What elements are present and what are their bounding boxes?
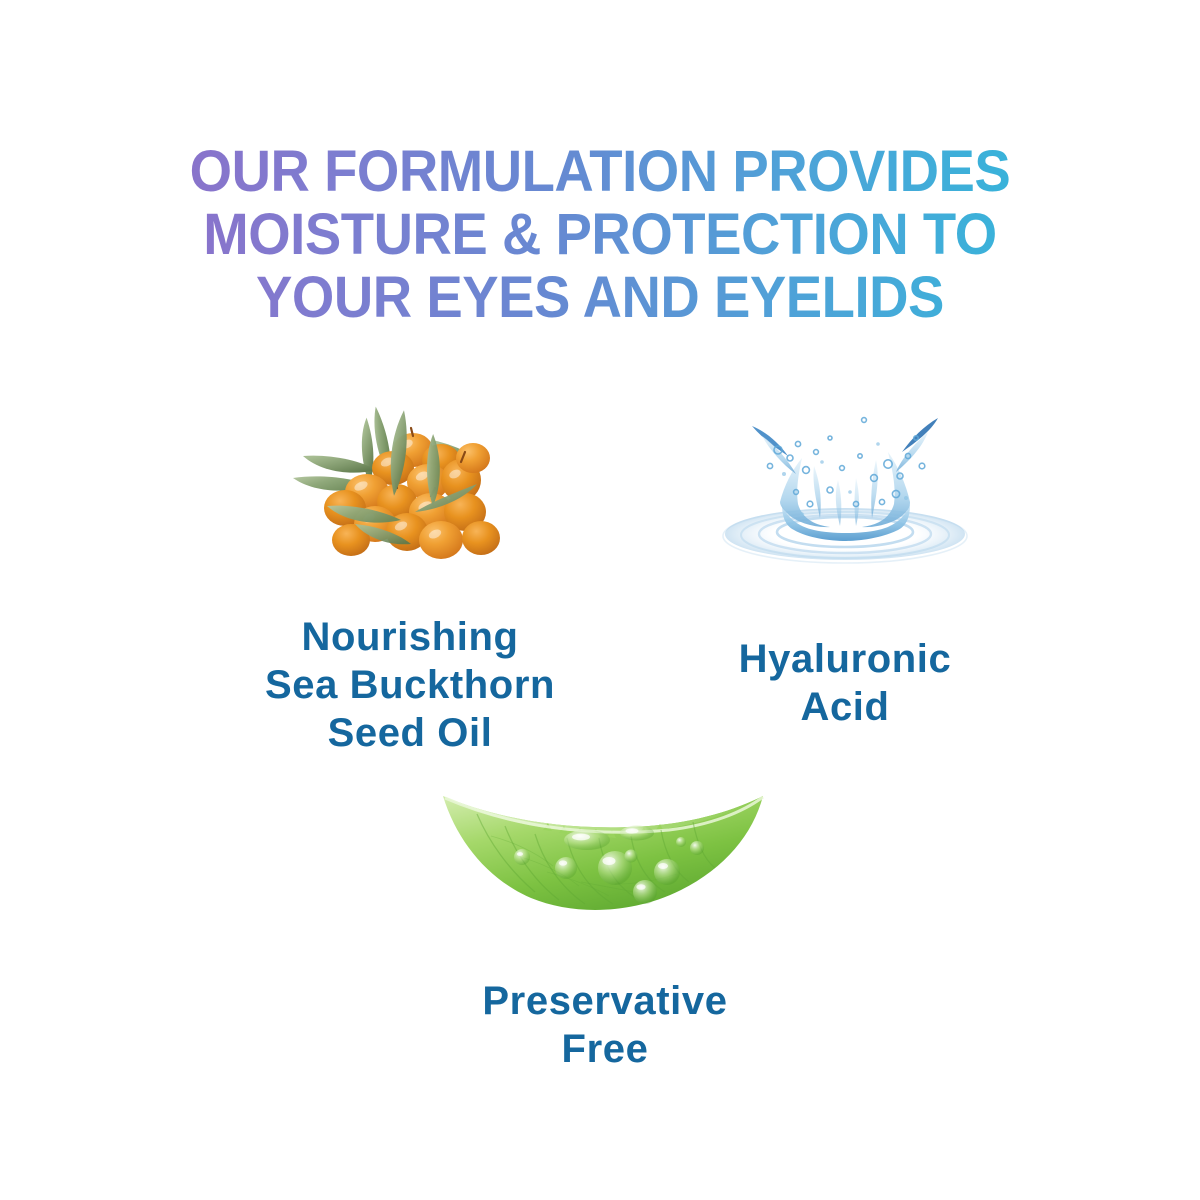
feature-hyaluronic-acid: Hyaluronic Acid bbox=[650, 408, 1040, 731]
sea-buckthorn-berries-icon bbox=[200, 400, 620, 575]
headline-line-3: YOUR EYES AND EYELIDS bbox=[130, 266, 1070, 329]
water-splash-icon bbox=[650, 408, 1040, 573]
headline-line-2: MOISTURE & PROTECTION TO bbox=[130, 203, 1070, 266]
page-title: OUR FORMULATION PROVIDES MOISTURE & PROT… bbox=[100, 140, 1100, 329]
label-line: Preservative bbox=[395, 977, 815, 1025]
label-line: Nourishing bbox=[200, 613, 620, 661]
headline-line-1: OUR FORMULATION PROVIDES bbox=[130, 140, 1070, 203]
feature-label-sea-buckthorn: Nourishing Sea Buckthorn Seed Oil bbox=[200, 613, 620, 757]
feature-label-preservative-free: Preservative Free bbox=[395, 977, 815, 1073]
feature-sea-buckthorn: Nourishing Sea Buckthorn Seed Oil bbox=[200, 400, 620, 757]
label-line: Sea Buckthorn bbox=[200, 661, 620, 709]
label-line: Seed Oil bbox=[200, 709, 620, 757]
infographic-page: OUR FORMULATION PROVIDES MOISTURE & PROT… bbox=[0, 0, 1200, 1200]
label-line: Acid bbox=[650, 683, 1040, 731]
feature-label-hyaluronic-acid: Hyaluronic Acid bbox=[650, 635, 1040, 731]
label-line: Free bbox=[395, 1025, 815, 1073]
label-line: Hyaluronic bbox=[650, 635, 1040, 683]
green-leaf-with-dew-icon bbox=[395, 780, 815, 935]
feature-preservative-free: Preservative Free bbox=[395, 780, 815, 1073]
